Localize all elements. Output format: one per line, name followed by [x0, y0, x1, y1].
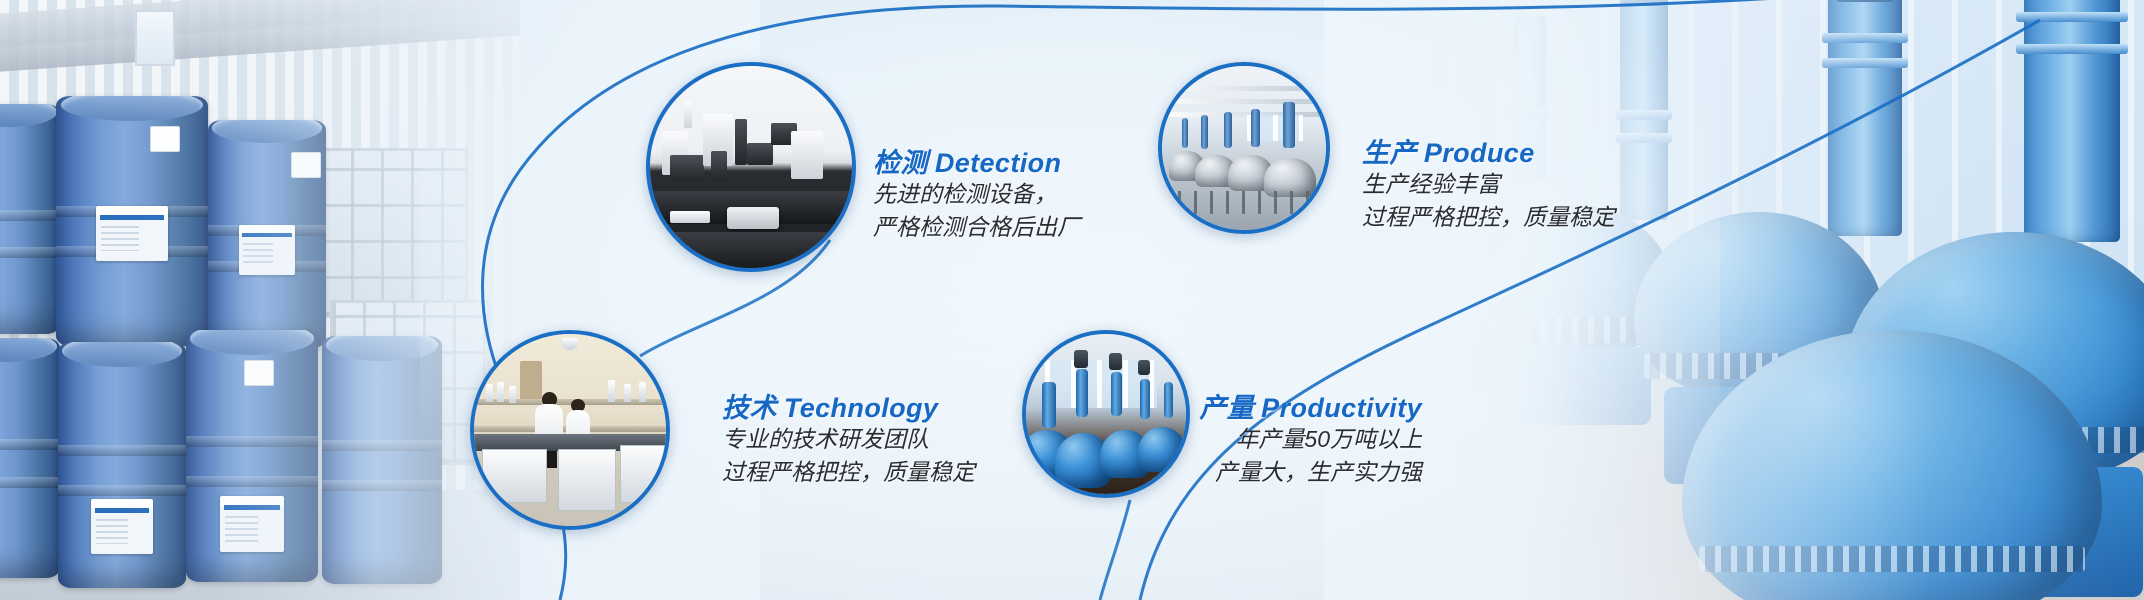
reagent-bottle — [608, 380, 615, 402]
feature-text-productivity: 产量Productivity 年产量50万吨以上 产量大，生产实力强 — [1190, 393, 1422, 489]
feature-photo-detection[interactable] — [646, 62, 856, 272]
detection-line-1: 先进的检测设备， — [873, 178, 1080, 211]
agitator-shaft — [1283, 102, 1295, 148]
right-background-photo — [1424, 0, 2144, 600]
chemical-drum — [58, 342, 186, 588]
motor-unit — [1138, 360, 1150, 375]
reagent-bottle — [486, 384, 493, 402]
feature-text-detection: 检测Detection 先进的检测设备， 严格检测合格后出厂 — [873, 148, 1080, 244]
chemical-drum — [208, 120, 326, 348]
technology-heading: 技术Technology — [722, 393, 975, 423]
productivity-photo-content — [1026, 334, 1186, 494]
feature-photo-technology[interactable] — [470, 330, 670, 530]
produce-title-cn: 生产 — [1362, 138, 1417, 168]
detection-line-2: 严格检测合格后出厂 — [873, 211, 1080, 244]
lab-instrument — [735, 119, 747, 165]
productivity-heading: 产量Productivity — [1190, 393, 1422, 423]
agitator-column — [1164, 382, 1173, 418]
productivity-title-en: Productivity — [1261, 393, 1422, 423]
ceiling-rafter — [1162, 86, 1326, 91]
technology-photo-content — [474, 334, 666, 526]
lab-bench-lower — [646, 232, 856, 272]
lab-instrument — [684, 102, 692, 128]
productivity-line-1: 年产量50万吨以上 — [1190, 423, 1422, 456]
detection-photo-content — [650, 66, 852, 268]
left-background-photo — [0, 0, 520, 600]
productivity-title-cn: 产量 — [1199, 393, 1254, 423]
feature-photo-produce[interactable] — [1158, 62, 1330, 234]
lab-tray — [670, 211, 710, 223]
produce-heading: 生产Produce — [1362, 138, 1615, 168]
agitator-shaft — [1182, 118, 1188, 148]
ceiling-rafter — [1162, 99, 1326, 104]
right-photo-tint — [1424, 0, 2144, 600]
wall-window — [135, 10, 175, 66]
lab-instrument — [670, 155, 704, 181]
chemical-drum — [322, 336, 442, 584]
weighing-scale — [727, 207, 779, 229]
technology-title-en: Technology — [784, 393, 939, 423]
reagent-bottle — [509, 386, 516, 403]
detection-title-cn: 检测 — [873, 148, 928, 178]
produce-line-2: 过程严格把控，质量稳定 — [1362, 201, 1615, 234]
productivity-line-2: 产量大，生产实力强 — [1190, 456, 1422, 489]
chemical-drum — [186, 330, 318, 582]
lab-instrument — [711, 151, 727, 181]
produce-line-1: 生产经验丰富 — [1362, 168, 1615, 201]
lab-instrument — [747, 143, 773, 165]
agitator-shaft — [1224, 112, 1232, 148]
chemical-drum — [56, 96, 208, 346]
agitator-shaft — [1201, 115, 1208, 149]
factory-strength-banner: 检测Detection 先进的检测设备， 严格检测合格后出厂 生产Produce… — [0, 0, 2144, 600]
lab-cabinet — [482, 449, 547, 503]
technology-title-cn: 技术 — [722, 393, 777, 423]
motor-unit — [1074, 350, 1088, 368]
reagent-bottle — [639, 382, 646, 402]
agitator-column — [1140, 379, 1150, 419]
technology-line-1: 专业的技术研发团队 — [722, 423, 975, 456]
reagent-bottle — [624, 384, 631, 402]
agitator-column — [1042, 382, 1056, 428]
feature-text-produce: 生产Produce 生产经验丰富 过程严格把控，质量稳定 — [1362, 138, 1615, 234]
produce-photo-content — [1162, 66, 1326, 230]
lab-cabinet — [558, 449, 616, 510]
agitator-shaft — [1251, 109, 1260, 147]
feature-text-technology: 技术Technology 专业的技术研发团队 过程严格把控，质量稳定 — [722, 393, 975, 489]
chemical-drum — [0, 104, 60, 334]
lab-cabinet — [620, 445, 666, 503]
detection-heading: 检测Detection — [873, 148, 1080, 178]
ceiling-lamp — [562, 338, 578, 350]
blue-reactor — [1138, 427, 1186, 472]
motor-unit — [1109, 353, 1122, 370]
reagent-bottle — [497, 382, 504, 402]
lab-instrument — [791, 131, 823, 179]
agitator-column — [1111, 372, 1122, 416]
technology-line-2: 过程严格把控，质量稳定 — [722, 456, 975, 489]
detection-title-en: Detection — [935, 148, 1062, 178]
feature-photo-productivity[interactable] — [1022, 330, 1190, 498]
produce-title-en: Produce — [1424, 138, 1535, 168]
agitator-column — [1076, 369, 1088, 417]
walkway-fence — [1162, 191, 1326, 214]
ibc-tote — [318, 148, 468, 318]
chemical-drum — [0, 338, 60, 578]
